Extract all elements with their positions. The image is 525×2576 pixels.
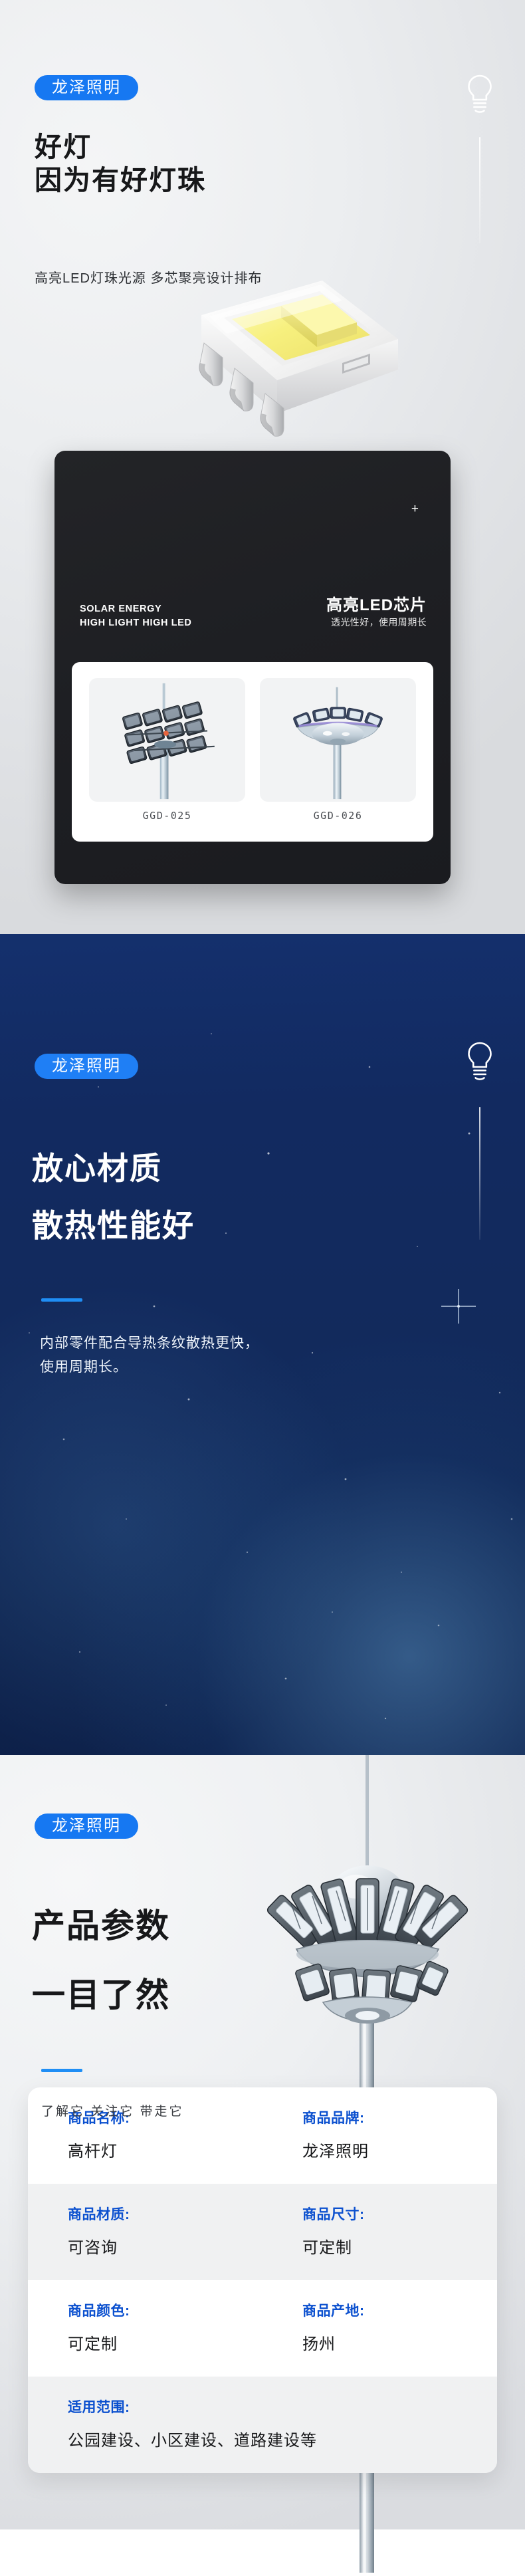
params-headline: 产品参数 一目了然 [32, 1891, 170, 2030]
accent-rule [41, 1298, 82, 1302]
lightbulb-icon [465, 73, 498, 246]
spec-label: 商品产地: [302, 2300, 497, 2320]
spec-label: 商品尺寸: [302, 2204, 497, 2224]
accent-rule [41, 2069, 82, 2072]
spec-cell: 商品尺寸: 可定制 [262, 2204, 497, 2258]
high-mast-lamp-angled-array-icon [89, 678, 245, 802]
brand-badge[interactable]: 龙泽照明 [35, 75, 138, 100]
spec-cell: 商品颜色: 可定制 [28, 2300, 262, 2354]
table-row: 商品材质: 可咨询 商品尺寸: 可定制 [28, 2184, 497, 2280]
led-chip-illustration [123, 259, 409, 479]
lightbulb-icon [465, 1040, 498, 1240]
product-item[interactable]: GGD-025 [89, 678, 245, 842]
material-body: 内部零件配合导热条纹散热更快， 使用周期长。 [40, 1332, 259, 1379]
plus-icon: + [411, 503, 419, 515]
spec-label: 商品材质: [68, 2204, 262, 2224]
spec-cell: 商品产地: 扬州 [262, 2300, 497, 2354]
brand-badge[interactable]: 龙泽照明 [35, 1814, 138, 1839]
led-product-card: + SOLAR ENERGY HIGH LIGHT HIGH LED 高亮LED… [54, 451, 451, 884]
material-headline: 放心材质 散热性能好 [32, 1140, 195, 1254]
spec-table: 商品名称: 高杆灯 商品品牌: 龙泽照明 商品材质: 可咨询 商品尺寸: 可定制… [28, 2087, 497, 2473]
spec-value: 可定制 [68, 2331, 262, 2354]
params-subline: 了解它 关注它 带走它 [41, 2102, 184, 2122]
spec-cell: 商品品牌: 龙泽照明 [262, 2107, 497, 2161]
product-code: GGD-026 [314, 810, 363, 822]
spec-cell: 商品材质: 可咨询 [28, 2204, 262, 2258]
product-item[interactable]: GGD-026 [260, 678, 416, 842]
spec-value: 高杆灯 [68, 2138, 262, 2161]
spec-label: 适用范围: [68, 2397, 497, 2416]
spec-value: 公园建设、小区建设、道路建设等 [68, 2427, 497, 2450]
table-row: 适用范围: 公园建设、小区建设、道路建设等 [28, 2377, 497, 2473]
high-mast-lamp-round-crown-icon [260, 678, 416, 802]
bulb-hairline [479, 1107, 480, 1240]
brand-badge[interactable]: 龙泽照明 [35, 1054, 138, 1079]
hero-headline: 好灯 因为有好灯珠 [35, 130, 206, 197]
chip-title: 高亮LED芯片 [326, 592, 427, 615]
spec-label: 商品品牌: [302, 2107, 497, 2127]
spec-label: 商品颜色: [68, 2300, 262, 2320]
section-hero-led: 龙泽照明 好灯 因为有好灯珠 高亮LED灯珠光源 多芯聚亮设计排布 + SOLA… [0, 0, 525, 934]
spec-value: 扬州 [302, 2331, 497, 2354]
bulb-hairline [479, 137, 480, 243]
spec-value: 可咨询 [68, 2234, 262, 2258]
card-english-caption: SOLAR ENERGY HIGH LIGHT HIGH LED [80, 602, 191, 630]
product-detail-page: 龙泽照明 好灯 因为有好灯珠 高亮LED灯珠光源 多芯聚亮设计排布 + SOLA… [0, 0, 525, 2573]
spec-value: 龙泽照明 [302, 2138, 497, 2161]
table-row: 商品颜色: 可定制 商品产地: 扬州 [28, 2280, 497, 2377]
spec-cell: 适用范围: 公园建设、小区建设、道路建设等 [28, 2397, 497, 2450]
chip-subtitle: 透光性好，使用周期长 [331, 616, 427, 629]
section-material-heat: 龙泽照明 放心材质 散热性能好 内部零件配合导热条纹散热更快， 使用周期长。 [0, 934, 525, 1755]
product-code: GGD-025 [143, 810, 192, 822]
product-panel: GGD-025 [72, 662, 433, 842]
spec-value: 可定制 [302, 2234, 497, 2258]
